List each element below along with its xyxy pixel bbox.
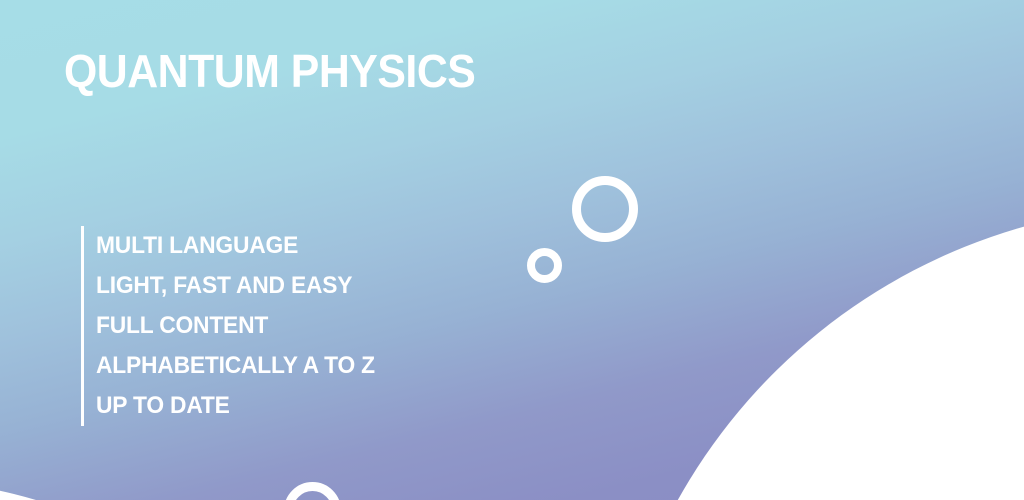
list-item: ALPHABETICALLY A TO Z bbox=[96, 346, 375, 386]
white-curve-shape-left bbox=[0, 478, 230, 500]
feature-list: MULTI LANGUAGE LIGHT, FAST AND EASY FULL… bbox=[81, 226, 390, 426]
white-curve-shape-right bbox=[431, 31, 1024, 500]
list-item: FULL CONTENT bbox=[96, 306, 375, 346]
list-item: LIGHT, FAST AND EASY bbox=[96, 266, 375, 306]
list-item: MULTI LANGUAGE bbox=[96, 226, 375, 266]
circle-outline-icon-large bbox=[572, 176, 638, 242]
list-item: UP TO DATE bbox=[96, 386, 375, 426]
circle-outline-icon-small bbox=[527, 248, 562, 283]
circle-outline-icon-bottom bbox=[284, 482, 341, 500]
page-title: QUANTUM PHYSICS bbox=[64, 48, 475, 94]
app-banner: QUANTUM PHYSICS MULTI LANGUAGE LIGHT, FA… bbox=[0, 0, 1024, 500]
